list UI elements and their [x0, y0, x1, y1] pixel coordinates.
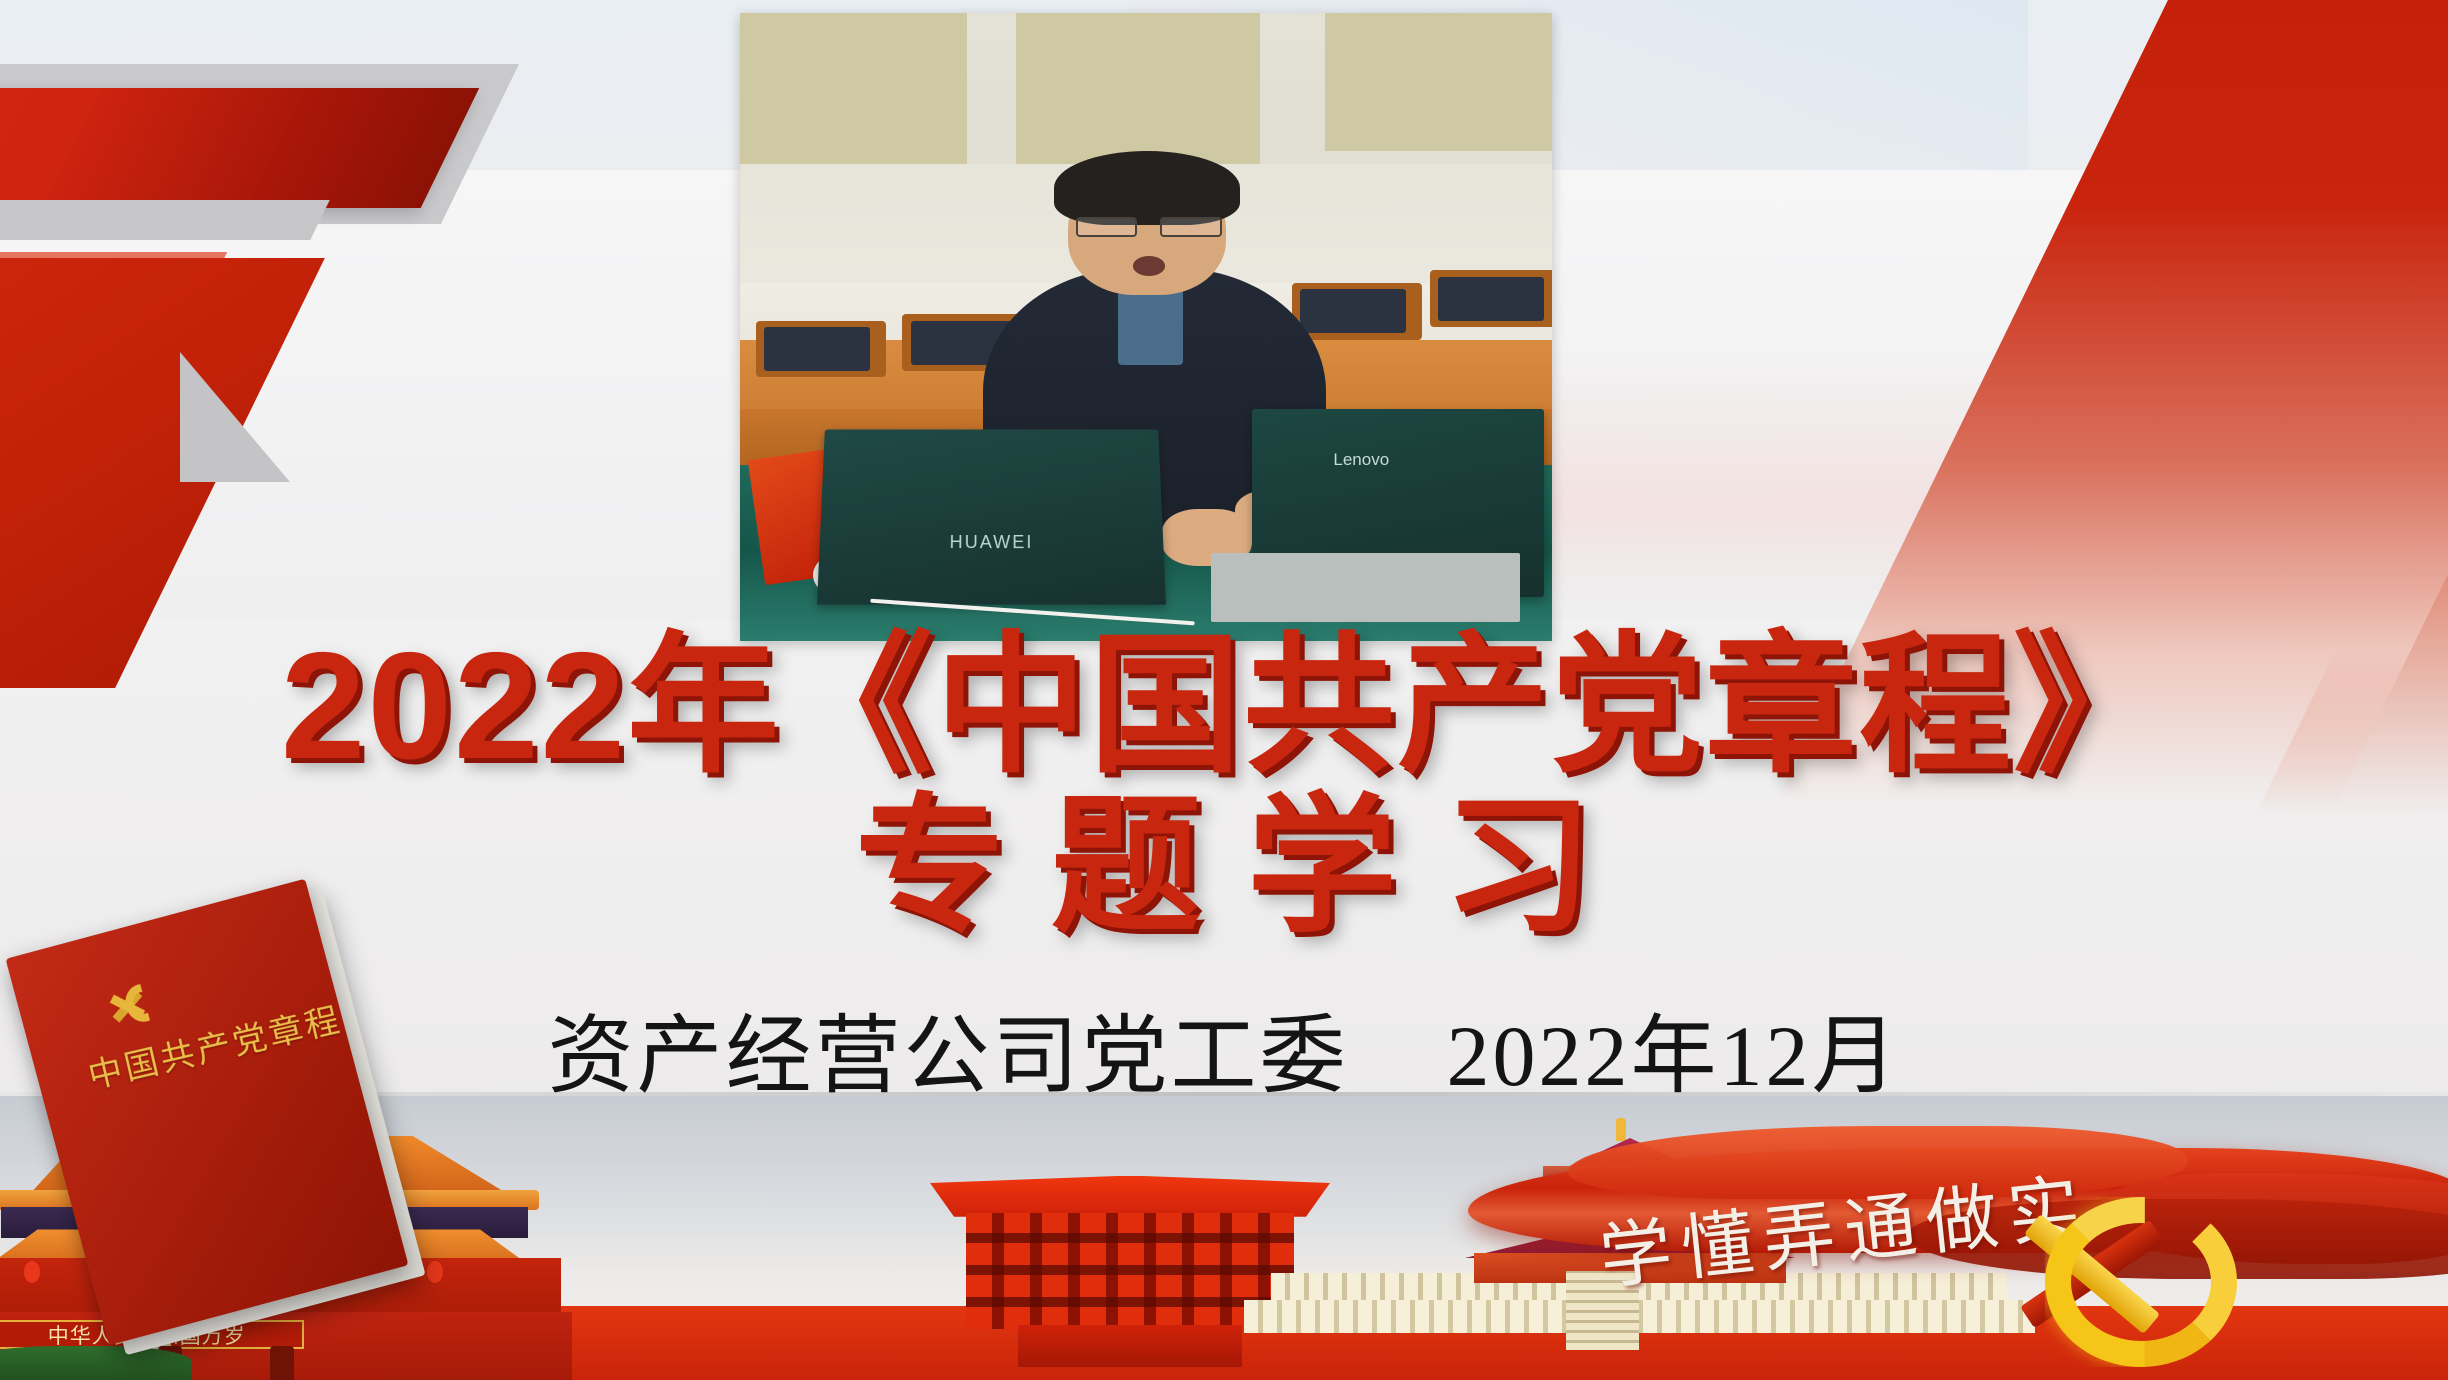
lantern-icon	[427, 1261, 443, 1283]
laptop-brand-label: HUAWEI	[950, 533, 1034, 554]
presentation-slide: Lenovo HUAWEI 2022年《中国共产党章程》 专题学习 资产经营公司…	[0, 0, 2448, 1380]
china-pavilion	[930, 1176, 1330, 1363]
tiananmen-gate-arch	[270, 1346, 294, 1380]
photo-laptop-keyboard	[1211, 553, 1520, 622]
book-emblem-sickle-blade	[121, 980, 166, 1026]
photo-wall-panel	[740, 13, 967, 164]
top-left-red-bar	[0, 88, 479, 208]
party-emblem-icon	[1998, 1160, 2258, 1380]
glasses-icon	[1076, 217, 1222, 236]
page-title-line1: 2022年《中国共产党章程》	[0, 630, 2448, 782]
book-party-emblem-icon	[104, 976, 171, 1037]
photo-person-hair	[1054, 151, 1240, 225]
meeting-photo: Lenovo HUAWEI	[740, 13, 1552, 641]
photo-wall-panel	[1325, 13, 1552, 151]
pavilion-base	[1018, 1325, 1242, 1366]
grey-triangle-accent	[180, 352, 290, 482]
photo-chair	[764, 327, 870, 371]
red-ribbon: 学懂弄通做实	[1468, 1119, 2448, 1301]
temple-terrace-lower	[1244, 1300, 2035, 1332]
tiananmen-trees	[0, 1346, 192, 1380]
page-title-line2: 专题学习	[0, 788, 2448, 946]
title-block: 2022年《中国共产党章程》 专题学习	[0, 630, 2448, 946]
laptop-brand-label: Lenovo	[1333, 450, 1389, 470]
photo-chair	[1438, 277, 1544, 321]
top-left-grey-tail	[0, 200, 330, 240]
photo-laptop-huawei: HUAWEI	[817, 430, 1166, 605]
photo-person-mouth	[1133, 256, 1165, 275]
pavilion-roof	[930, 1176, 1330, 1217]
lantern-icon	[24, 1261, 40, 1283]
